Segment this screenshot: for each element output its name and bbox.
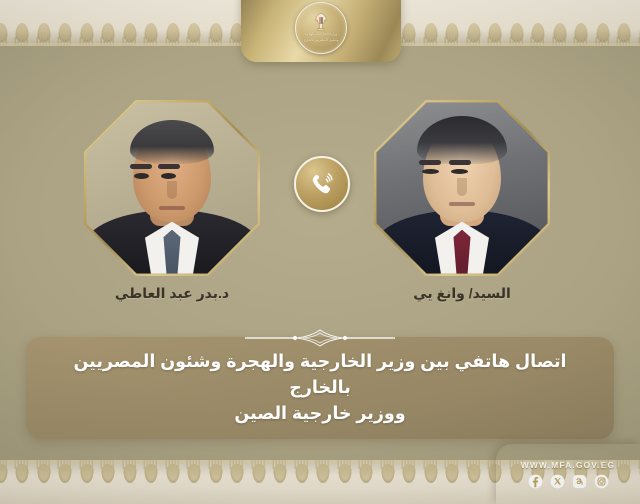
emblem-badge: وزارة الخارجية والهجرة وشئون المصريين با… xyxy=(295,2,347,54)
headline-line-2: ووزير خارجية الصين xyxy=(52,401,588,427)
portrait-wang-yi xyxy=(376,102,547,273)
headline-line-1: اتصال هاتفي بين وزير الخارجية والهجرة وش… xyxy=(52,349,588,401)
footer-contact-panel: WWW.MFA.GOV.EG xyxy=(496,444,640,504)
person-card-left: د.بدر عبد العاطي xyxy=(84,100,260,302)
person-card-right: السيد/ وانغ يي xyxy=(374,100,550,302)
threads-icon[interactable] xyxy=(572,474,587,489)
emblem-caption-line1: وزارة الخارجية والهجرة xyxy=(305,32,337,37)
headline-banner: اتصال هاتفي بين وزير الخارجية والهجرة وش… xyxy=(26,337,614,439)
portrait-frame-right xyxy=(374,100,550,276)
person-name-left: د.بدر عبد العاطي xyxy=(84,285,260,302)
ministry-emblem-plaque: وزارة الخارجية والهجرة وشئون المصريين با… xyxy=(241,0,401,62)
egypt-eagle-emblem-icon xyxy=(313,12,329,31)
person-name-right: السيد/ وانغ يي xyxy=(374,285,550,302)
portrait-frame-left xyxy=(84,100,260,276)
portrait-badr-abdelatty xyxy=(86,102,257,273)
social-links xyxy=(528,474,609,489)
instagram-icon[interactable] xyxy=(594,474,609,489)
announcement-card: وزارة الخارجية والهجرة وشئون المصريين با… xyxy=(0,0,640,504)
emblem-caption-line2: وشئون المصريين بالخارج xyxy=(304,38,339,43)
x-twitter-icon[interactable] xyxy=(550,474,565,489)
website-url[interactable]: WWW.MFA.GOV.EG xyxy=(521,460,615,470)
facebook-icon[interactable] xyxy=(528,474,543,489)
headline-text: اتصال هاتفي بين وزير الخارجية والهجرة وش… xyxy=(26,349,614,427)
banner-flourish-ornament xyxy=(245,328,395,348)
phone-call-icon xyxy=(294,156,350,212)
